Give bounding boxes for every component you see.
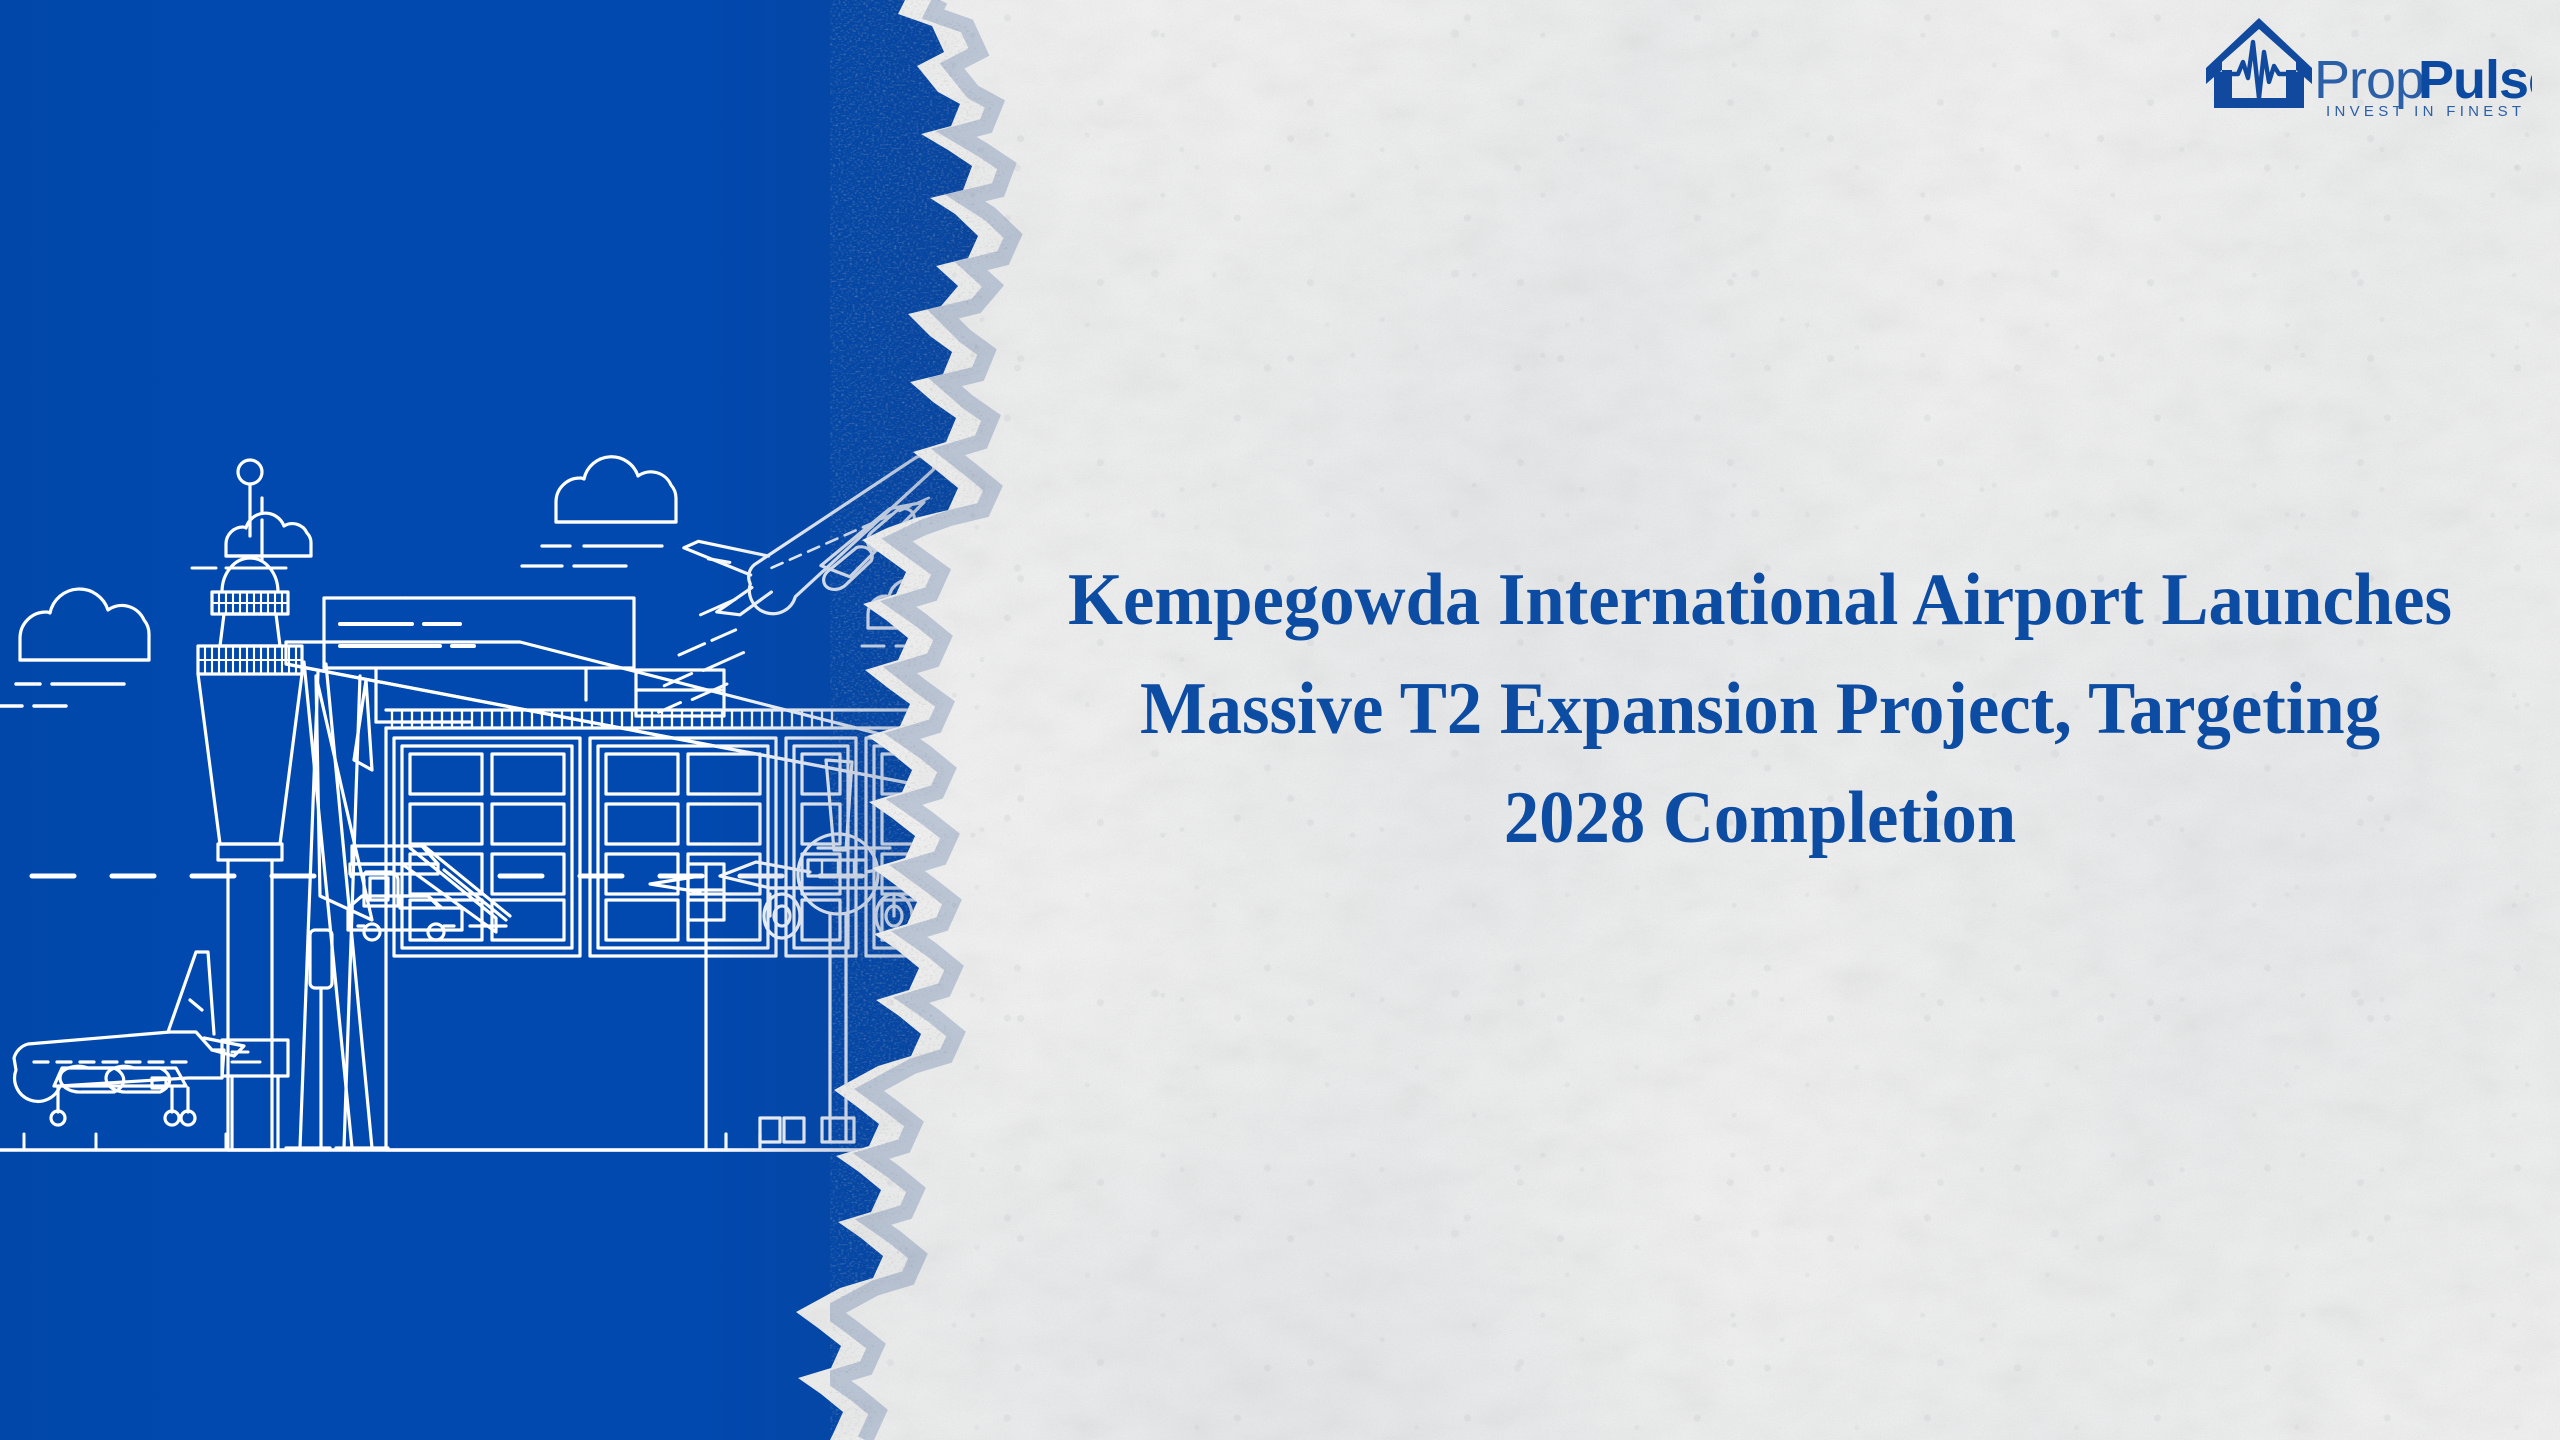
logo-tagline: INVEST IN FINEST (2326, 103, 2525, 120)
brand-logo[interactable]: Prop Pulse INVEST IN FINEST (2202, 12, 2532, 120)
logo-name-light: Prop (2314, 50, 2424, 110)
banner-canvas: Kempegowda International Airport Launche… (0, 0, 2560, 1440)
page-title: Kempegowda International Airport Launche… (1034, 546, 2486, 873)
headline-line-1: Kempegowda International Airport Launche… (1034, 546, 2486, 655)
logo-name-bold: Pulse (2418, 50, 2532, 110)
headline-line-2: Massive T2 Expansion Project, Targeting (1034, 655, 2486, 764)
blue-panel (0, 0, 1060, 1440)
headline-block: Kempegowda International Airport Launche… (980, 0, 2540, 1440)
logo-artwork: Prop Pulse INVEST IN FINEST (2202, 12, 2532, 120)
headline-line-3: 2028 Completion (1034, 764, 2486, 873)
